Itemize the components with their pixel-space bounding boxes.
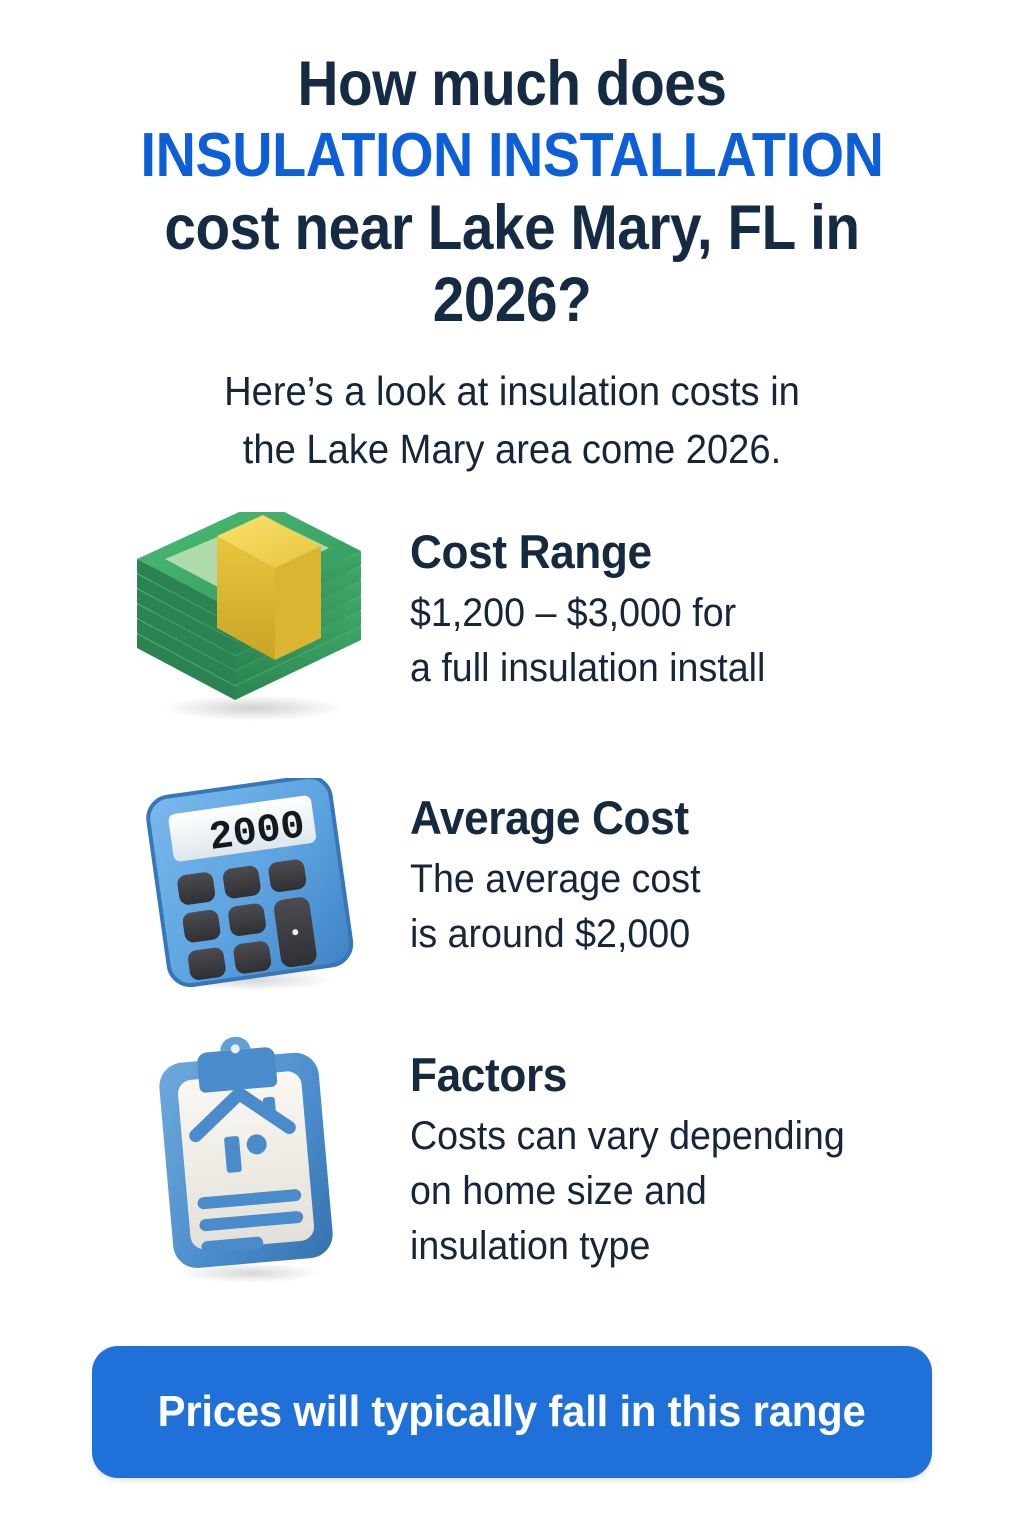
headline-line-1: How much does [96, 48, 928, 120]
text-cell: Cost Range $1,200 – $3,000 for a full in… [410, 512, 788, 696]
fact-row-average-cost: 2000 [90, 778, 719, 998]
cta-banner[interactable]: Prices will typically fall in this range [92, 1346, 932, 1478]
text-cell: Average Cost The average cost is around … [410, 778, 719, 962]
calculator-icon: 2000 [140, 778, 360, 998]
icon-cell [90, 1035, 410, 1290]
desc-line: is around $2,000 [410, 907, 701, 962]
subtitle-line-2: the Lake Mary area come 2026. [140, 420, 884, 478]
headline-line-3: cost near Lake Mary, FL in [96, 192, 928, 264]
headline-highlight: INSULATION INSTALLATION [96, 120, 928, 191]
desc-line: a full insulation install [410, 641, 765, 696]
row-title-factors: Factors [410, 1049, 845, 1101]
desc-line: Costs can vary depending [410, 1109, 845, 1164]
desc-line: The average cost [410, 852, 701, 907]
page-title: How much does INSULATION INSTALLATION co… [96, 48, 928, 337]
headline-line-4: 2026? [96, 264, 928, 336]
row-desc-cost-range: $1,200 – $3,000 for a full insulation in… [410, 586, 765, 696]
infographic-page: How much does INSULATION INSTALLATION co… [0, 0, 1024, 1536]
money-stack-icon [125, 512, 375, 727]
cta-banner-label: Prices will typically fall in this range [158, 1387, 866, 1437]
clipboard-house-icon [150, 1035, 350, 1290]
desc-line: on home size and [410, 1164, 845, 1219]
icon-cell [90, 512, 410, 727]
desc-line: insulation type [410, 1219, 845, 1274]
row-desc-average-cost: The average cost is around $2,000 [410, 852, 701, 962]
page-subtitle: Here’s a look at insulation costs in the… [140, 362, 884, 478]
desc-line: $1,200 – $3,000 for [410, 586, 765, 641]
subtitle-line-1: Here’s a look at insulation costs in [140, 362, 884, 420]
icon-cell: 2000 [90, 778, 410, 998]
row-title-cost-range: Cost Range [410, 526, 765, 578]
fact-row-cost-range: Cost Range $1,200 – $3,000 for a full in… [90, 512, 788, 727]
row-title-average-cost: Average Cost [410, 792, 701, 844]
fact-row-factors: Factors Costs can vary depending on home… [90, 1035, 873, 1290]
text-cell: Factors Costs can vary depending on home… [410, 1035, 873, 1274]
row-desc-factors: Costs can vary depending on home size an… [410, 1109, 845, 1275]
